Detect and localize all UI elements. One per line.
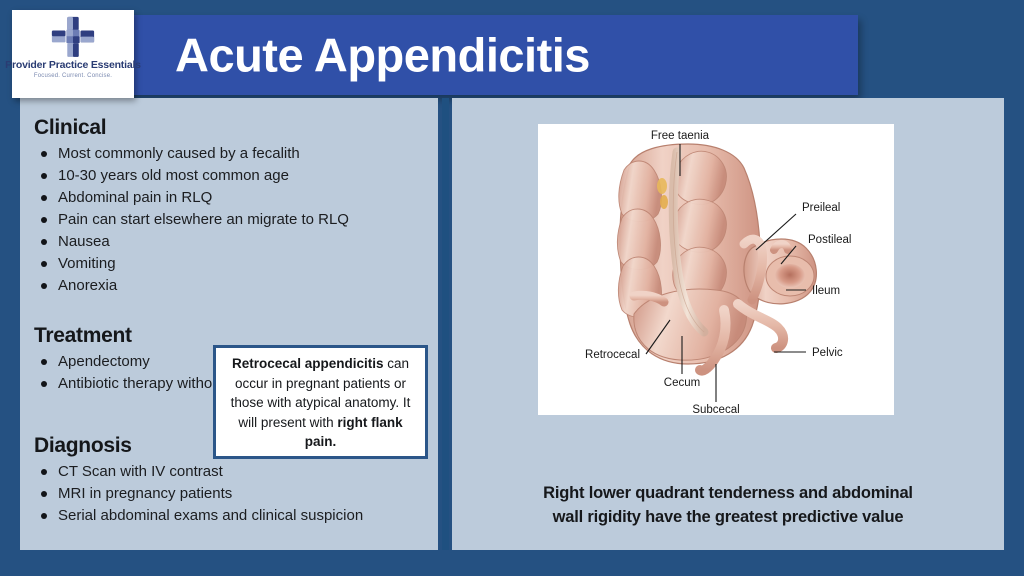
panel-divider — [442, 98, 449, 550]
title-bar: Acute Appendicitis — [20, 15, 858, 95]
list-item: Pain can start elsewhere an migrate to R… — [34, 209, 424, 230]
label-ileum: Ileum — [812, 285, 840, 297]
diagnosis-bullet-list: CT Scan with IV contrast MRI in pregnanc… — [34, 461, 424, 526]
page-title: Acute Appendicitis — [175, 28, 590, 83]
list-item: Abdominal pain in RLQ — [34, 187, 424, 208]
label-free-taenia: Free taenia — [651, 130, 710, 142]
list-item: MRI in pregnancy patients — [34, 483, 424, 504]
caption-line-1: Right lower quadrant tenderness and abdo… — [482, 481, 974, 505]
callout-text: Retrocecal appendicitis can occur in pre… — [225, 354, 416, 452]
list-item: Nausea — [34, 231, 424, 252]
retrocecal-callout-box: Retrocecal appendicitis can occur in pre… — [213, 345, 428, 459]
callout-lead: Retrocecal appendicitis — [232, 356, 384, 371]
label-subcecal: Subcecal — [692, 404, 739, 415]
list-item: CT Scan with IV contrast — [34, 461, 424, 482]
label-pelvic: Pelvic — [812, 347, 843, 359]
clinical-bullet-list: Most commonly caused by a fecalith 10-30… — [34, 143, 424, 296]
cecum-body — [617, 144, 760, 364]
label-preileal: Preileal — [802, 202, 840, 214]
figure-caption: Right lower quadrant tenderness and abdo… — [482, 481, 974, 529]
brand-logo-card: Provider Practice Essentials Focused. Cu… — [12, 10, 134, 98]
label-retrocecal: Retrocecal — [585, 349, 640, 361]
list-item: Anorexia — [34, 275, 424, 296]
list-item: Serial abdominal exams and clinical susp… — [34, 505, 424, 526]
list-item: 10-30 years old most common age — [34, 165, 424, 186]
appendix-anatomy-figure: Free taenia Preileal Postileal Ileum Pel… — [538, 124, 894, 415]
brand-name: Provider Practice Essentials — [5, 59, 141, 71]
section-heading-clinical: Clinical — [34, 116, 424, 140]
caption-line-2: wall rigidity have the greatest predicti… — [482, 505, 974, 529]
label-cecum: Cecum — [664, 377, 700, 389]
list-item: Vomiting — [34, 253, 424, 274]
list-item: Most commonly caused by a fecalith — [34, 143, 424, 164]
brand-tagline: Focused. Current. Concise. — [34, 73, 112, 79]
figure-panel: Free taenia Preileal Postileal Ileum Pel… — [452, 98, 1004, 550]
label-postileal: Postileal — [808, 234, 851, 246]
clinical-content-panel: Clinical Most commonly caused by a fecal… — [20, 98, 438, 550]
medical-cross-icon — [51, 16, 95, 58]
